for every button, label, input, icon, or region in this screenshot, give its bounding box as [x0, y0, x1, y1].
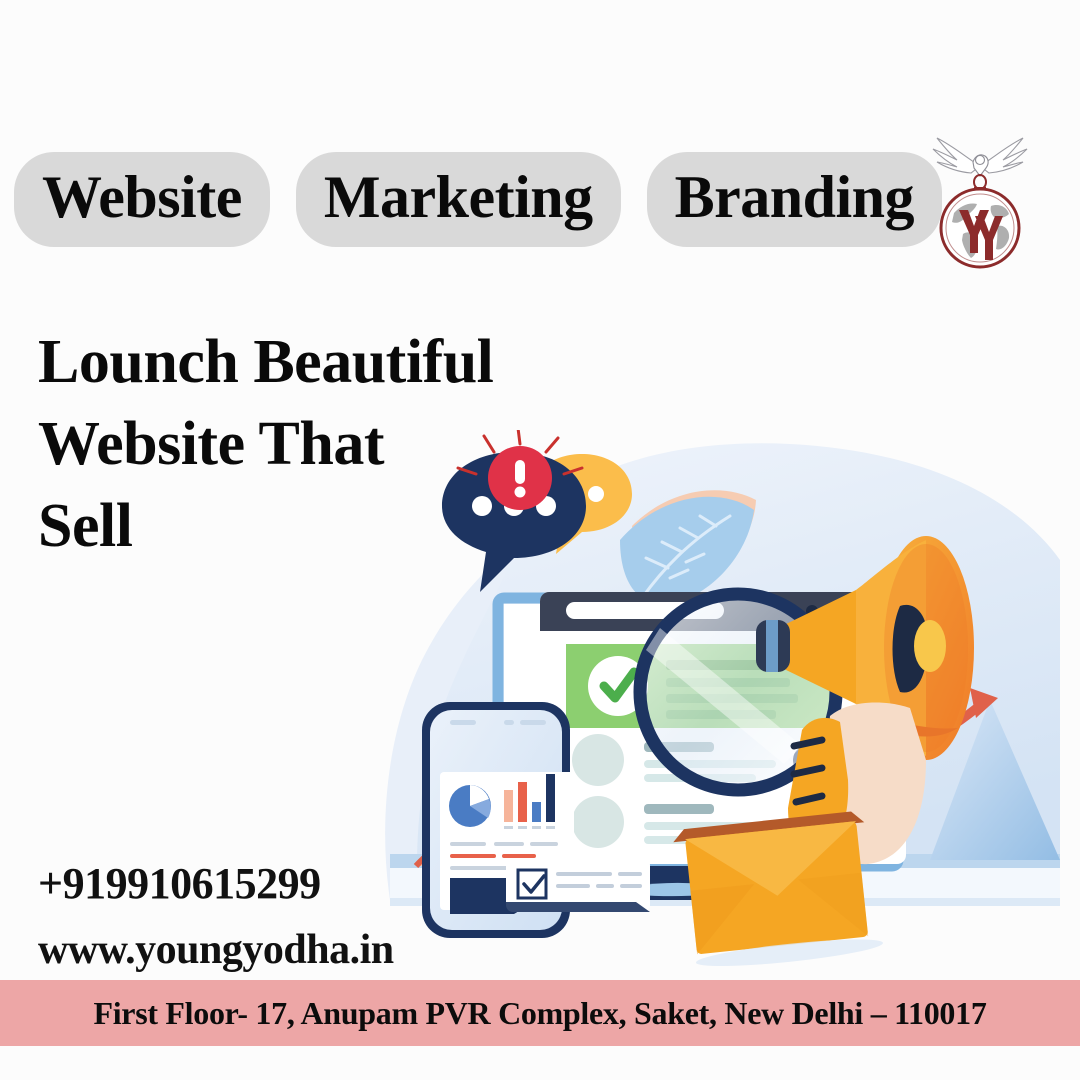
- eagle-globe-logo-icon: [905, 118, 1055, 278]
- pie-chart-icon: [449, 785, 491, 827]
- tag-pill-website[interactable]: Website: [14, 152, 270, 247]
- phone-number[interactable]: +919910615299: [38, 856, 394, 911]
- contact-block: +919910615299 www.youngyodha.in: [38, 856, 394, 978]
- website-url[interactable]: www.youngyodha.in: [38, 923, 394, 978]
- promo-poster: Website Marketing Branding: [0, 0, 1080, 1080]
- office-address: First Floor- 17, Anupam PVR Complex, Sak…: [93, 995, 986, 1032]
- service-tag-row: Website Marketing Branding: [14, 152, 942, 247]
- address-footer-bar: First Floor- 17, Anupam PVR Complex, Sak…: [0, 980, 1080, 1046]
- hero-illustration: [370, 430, 1080, 980]
- tag-pill-branding[interactable]: Branding: [647, 152, 942, 247]
- task-checkbox-card: [506, 858, 650, 912]
- brand-logo[interactable]: [905, 118, 1055, 278]
- envelope-icon: [672, 810, 884, 973]
- headline-line-1: Lounch Beautiful: [38, 322, 493, 404]
- tag-pill-marketing[interactable]: Marketing: [296, 152, 621, 247]
